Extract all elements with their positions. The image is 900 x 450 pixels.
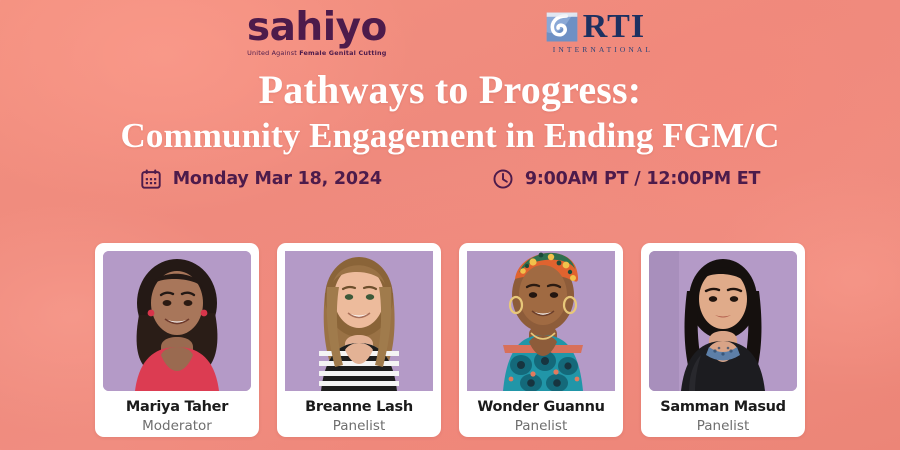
speaker-photo-image xyxy=(103,251,251,391)
event-date: Monday Mar 18, 2024 xyxy=(140,168,382,190)
logo-row: sahiyo United Against Female Genital Cut… xyxy=(0,4,900,62)
speaker-name: Breanne Lash xyxy=(285,398,433,416)
speaker-photo-image xyxy=(467,251,615,391)
speaker-role: Panelist xyxy=(285,417,433,435)
rti-wordmark: RTI xyxy=(583,10,645,44)
webinar-promo-graphic: sahiyo United Against Female Genital Cut… xyxy=(0,0,900,450)
speaker-photo xyxy=(103,251,251,391)
rti-subtitle: INTERNATIONAL xyxy=(537,45,653,54)
event-date-text: Monday Mar 18, 2024 xyxy=(173,169,382,189)
speaker-card[interactable]: Mariya Taher Moderator xyxy=(95,243,259,437)
speaker-photo-image xyxy=(285,251,433,391)
speaker-label: Mariya Taher Moderator xyxy=(103,398,251,435)
portrait-wonder-guannu xyxy=(467,233,615,391)
speaker-name: Mariya Taher xyxy=(103,398,251,416)
speaker-card[interactable]: Wonder Guannu Panelist xyxy=(459,243,623,437)
speaker-role: Panelist xyxy=(467,417,615,435)
sahiyo-tagline-prefix: United Against xyxy=(247,49,299,57)
portrait-breanne-lash xyxy=(285,239,433,391)
portrait-samman-masud xyxy=(649,251,797,391)
rti-logo: RTI INTERNATIONAL xyxy=(537,10,653,54)
speaker-photo xyxy=(649,251,797,391)
speaker-card[interactable]: Breanne Lash Panelist xyxy=(277,243,441,437)
sahiyo-tagline: United Against Female Genital Cutting xyxy=(247,49,386,57)
speaker-photo xyxy=(467,251,615,391)
speaker-photo-image xyxy=(649,251,797,391)
rti-logo-top: RTI xyxy=(545,10,645,44)
calendar-icon xyxy=(140,168,162,190)
speaker-photo xyxy=(285,251,433,391)
portrait-mariya-taher xyxy=(103,251,251,391)
speaker-name: Samman Masud xyxy=(649,398,797,416)
title-line-2: Community Engagement in Ending FGM/C xyxy=(0,114,900,158)
event-meta-row: Monday Mar 18, 2024 9:00AM PT / 12:00PM … xyxy=(0,168,900,190)
speaker-label: Wonder Guannu Panelist xyxy=(467,398,615,435)
sahiyo-logo: sahiyo United Against Female Genital Cut… xyxy=(247,9,387,57)
page-title: Pathways to Progress: Community Engageme… xyxy=(0,66,900,158)
sahiyo-wordmark: sahiyo xyxy=(247,9,387,47)
event-time: 9:00AM PT / 12:00PM ET xyxy=(492,168,760,190)
speaker-role: Panelist xyxy=(649,417,797,435)
speaker-label: Samman Masud Panelist xyxy=(649,398,797,435)
speaker-name: Wonder Guannu xyxy=(467,398,615,416)
speaker-card[interactable]: Samman Masud Panelist xyxy=(641,243,805,437)
title-line-1: Pathways to Progress: xyxy=(0,66,900,114)
speaker-label: Breanne Lash Panelist xyxy=(285,398,433,435)
speaker-role: Moderator xyxy=(103,417,251,435)
clock-icon xyxy=(492,168,514,190)
rti-swirl-mark-icon xyxy=(545,10,579,44)
speaker-cards: Mariya Taher Moderator xyxy=(0,243,900,437)
event-time-text: 9:00AM PT / 12:00PM ET xyxy=(525,169,760,189)
sahiyo-tagline-bold: Female Genital Cutting xyxy=(299,49,386,57)
